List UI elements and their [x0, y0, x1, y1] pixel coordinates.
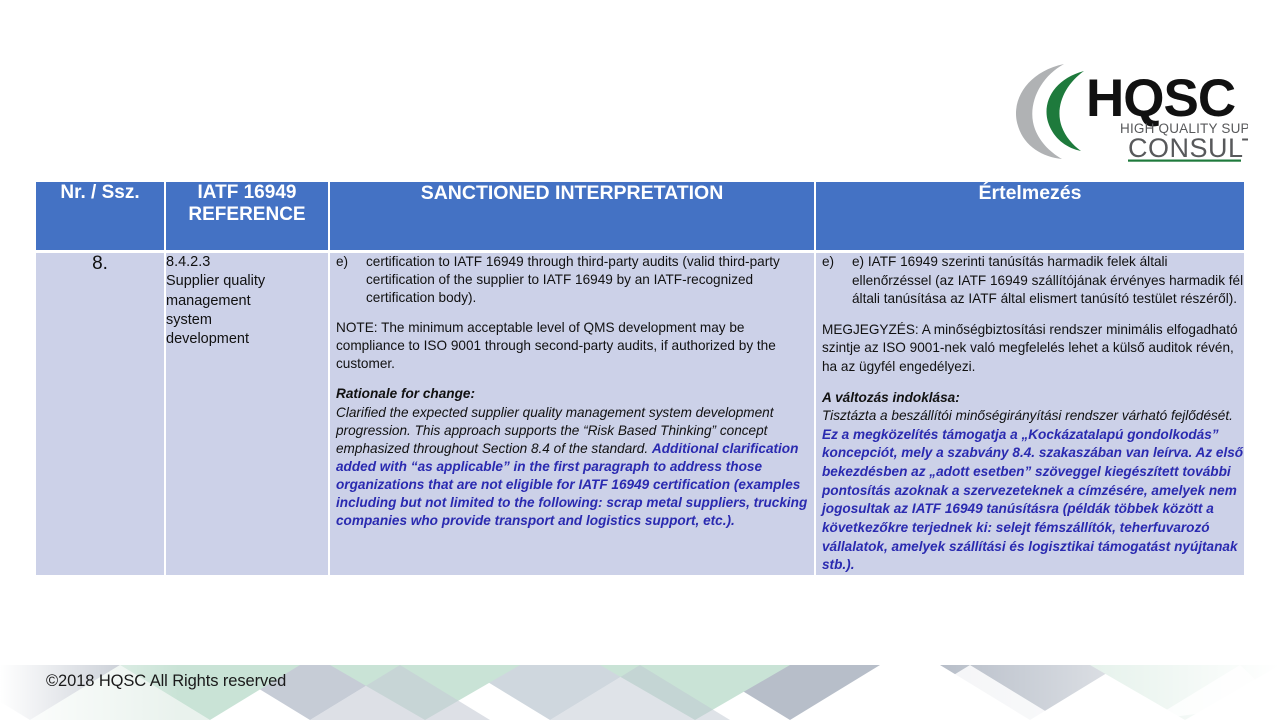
sanctioned-interpretation-table: Nr. / Ssz. IATF 16949 REFERENCE SANCTION…	[36, 182, 1244, 575]
cell-sanctioned-interpretation: e) certification to IATF 16949 through t…	[330, 250, 816, 575]
table-body: 8. 8.4.2.3 Supplier quality management s…	[36, 250, 1244, 575]
reference-title-line1: Supplier quality	[166, 272, 328, 291]
ertelmezes-rationale-emphasis: Ez a megközelítés támogatja a „Kockázata…	[822, 427, 1243, 572]
ertelmezes-item-marker: e)	[816, 253, 852, 309]
ertelmezes-item-text: e) IATF 16949 szerinti tanúsítás harmadi…	[852, 253, 1244, 309]
svg-text:CONSULT: CONSULT	[1128, 133, 1248, 162]
ertelmezes-rationale-heading: A változás indoklása:	[816, 389, 1244, 408]
reference-title-line3: system	[166, 311, 328, 330]
ertelmezes-rationale-plain: Tisztázta a beszállítói minőségirányítás…	[822, 408, 1233, 423]
ertelmezes-rationale-text: Tisztázta a beszállítói minőségirányítás…	[816, 407, 1244, 574]
column-header-nr: Nr. / Ssz.	[36, 182, 166, 250]
sanctioned-rationale-heading: Rationale for change:	[330, 385, 814, 403]
sanctioned-list-item: e) certification to IATF 16949 through t…	[330, 253, 814, 307]
ertelmezes-list-item: e) e) IATF 16949 szerinti tanúsítás harm…	[816, 253, 1244, 309]
column-header-iatf-reference: IATF 16949 REFERENCE	[166, 182, 330, 250]
sanctioned-rationale-text: Clarified the expected supplier quality …	[330, 404, 814, 531]
copyright-notice: ©2018 HQSC All Rights reserved	[46, 672, 286, 691]
reference-title-line4: development	[166, 330, 328, 349]
table-header-row: Nr. / Ssz. IATF 16949 REFERENCE SANCTION…	[36, 182, 1244, 250]
ertelmezes-note: MEGJEGYZÉS: A minőségbiztosítási rendsze…	[816, 321, 1244, 377]
reference-title-line2: management	[166, 292, 328, 311]
column-header-sanctioned-interpretation: SANCTIONED INTERPRETATION	[330, 182, 816, 250]
cell-iatf-reference: 8.4.2.3 Supplier quality management syst…	[166, 250, 330, 575]
sanctioned-item-text: certification to IATF 16949 through thir…	[366, 253, 814, 307]
column-header-ertelmezes: Értelmezés	[816, 182, 1244, 250]
cell-row-number: 8.	[36, 250, 166, 575]
column-header-iatf-reference-line2: REFERENCE	[188, 204, 305, 225]
table-row: 8. 8.4.2.3 Supplier quality management s…	[36, 250, 1244, 575]
sanctioned-note: NOTE: The minimum acceptable level of QM…	[330, 319, 814, 373]
sanctioned-item-marker: e)	[330, 253, 366, 307]
reference-clause: 8.4.2.3	[166, 253, 328, 272]
cell-ertelmezes: e) e) IATF 16949 szerinti tanúsítás harm…	[816, 250, 1244, 575]
table-header: Nr. / Ssz. IATF 16949 REFERENCE SANCTION…	[36, 182, 1244, 250]
svg-text:HQSC: HQSC	[1086, 69, 1235, 128]
column-header-iatf-reference-line1: IATF 16949	[198, 182, 297, 203]
hqsc-logo: HQSC HIGH QUALITY SUPPORT & CONSULT	[1008, 58, 1248, 162]
